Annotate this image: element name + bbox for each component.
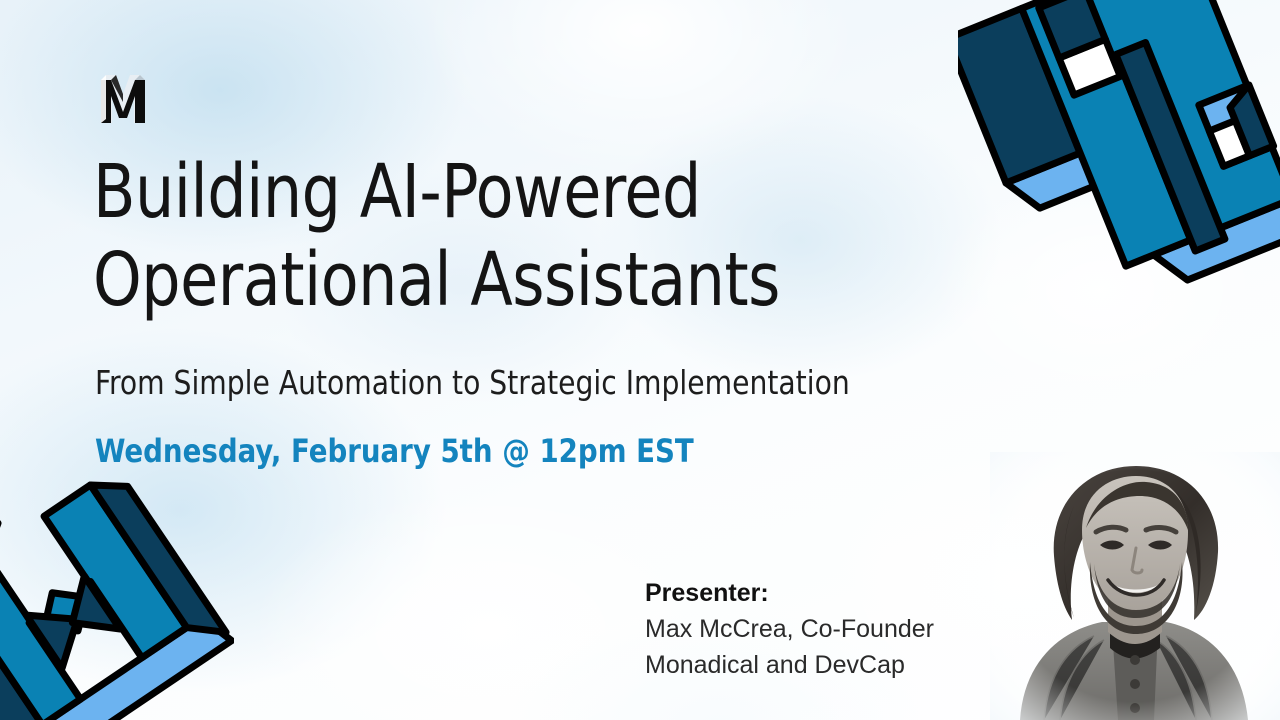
presenter-block: Presenter: Max McCrea, Co-Founder Monadi… xyxy=(645,575,995,683)
subtitle: From Simple Automation to Strategic Impl… xyxy=(95,362,850,404)
presenter-label: Presenter: xyxy=(645,575,995,611)
webinar-slide: Building AI-Powered Operational Assistan… xyxy=(0,0,1280,720)
headline-line-1: Building AI-Powered xyxy=(93,148,865,236)
page-title: Building AI-Powered Operational Assistan… xyxy=(93,148,923,324)
blue-3d-m-logo-icon xyxy=(0,472,234,720)
headline-line-2: Operational Assistants xyxy=(93,236,865,324)
blue-3d-m-logo-icon xyxy=(958,0,1280,338)
presenter-name: Max McCrea, Co-Founder xyxy=(645,611,995,647)
event-date-time: Wednesday, February 5th @ 12pm EST xyxy=(95,430,694,472)
monadical-m-logo-icon xyxy=(97,72,149,126)
presenter-headshot-photo xyxy=(990,452,1280,720)
presenter-company: Monadical and DevCap xyxy=(645,647,995,683)
